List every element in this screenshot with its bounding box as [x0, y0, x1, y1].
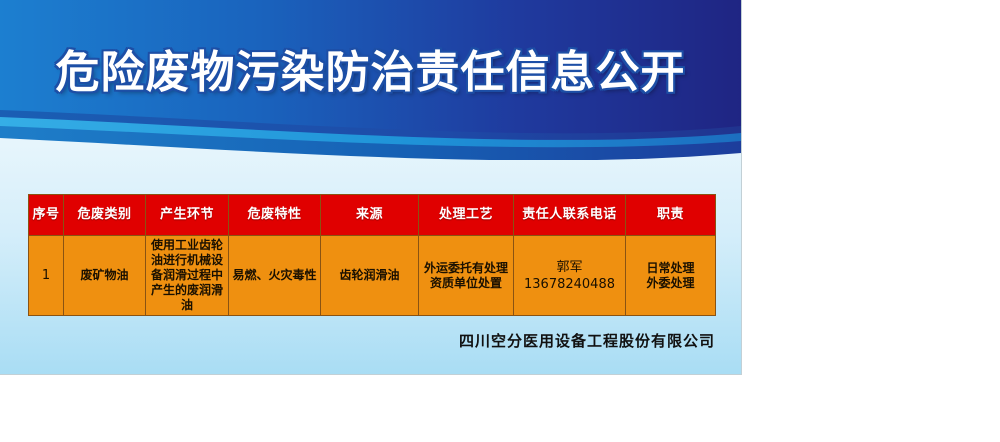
column-header-stage: 产生环节	[146, 195, 229, 236]
column-header-index: 序号	[29, 195, 64, 236]
cell-category: 废矿物油	[64, 236, 146, 316]
cell-index: 1	[29, 236, 64, 316]
column-header-contact: 责任人联系电话	[514, 195, 626, 236]
cell-contact: 郭军 13678240488	[514, 236, 626, 316]
cell-duty: 日常处理 外委处理	[626, 236, 716, 316]
cell-hazard-property: 易燃、火灾毒性	[229, 236, 321, 316]
cell-treatment-process: 外运委托有处理资质单位处置	[419, 236, 514, 316]
duty-line-2: 外委处理	[629, 276, 712, 291]
table-header-row: 序号 危废类别 产生环节 危废特性 来源 处理工艺 责任人联系电话 职责	[29, 195, 716, 236]
column-header-source: 来源	[321, 195, 419, 236]
column-header-property: 危废特性	[229, 195, 321, 236]
contact-name: 郭军	[517, 259, 622, 276]
poster-canvas: 危险废物污染防治责任信息公开 序号 危废类别 产生环节 危废特性 来源 处理工艺…	[0, 0, 741, 374]
column-header-treatment: 处理工艺	[419, 195, 514, 236]
cell-generation-stage: 使用工业齿轮油进行机械设备润滑过程中产生的废润滑油	[146, 236, 229, 316]
company-name: 四川空分医用设备工程股份有限公司	[0, 330, 715, 351]
hazardous-waste-table: 序号 危废类别 产生环节 危废特性 来源 处理工艺 责任人联系电话 职责 1 废…	[28, 194, 716, 316]
duty-line-1: 日常处理	[629, 261, 712, 276]
column-header-duty: 职责	[626, 195, 716, 236]
contact-phone: 13678240488	[517, 276, 622, 293]
column-header-category: 危废类别	[64, 195, 146, 236]
page-title: 危险废物污染防治责任信息公开	[0, 47, 741, 99]
table-row: 1 废矿物油 使用工业齿轮油进行机械设备润滑过程中产生的废润滑油 易燃、火灾毒性…	[29, 236, 716, 316]
cell-source: 齿轮润滑油	[321, 236, 419, 316]
